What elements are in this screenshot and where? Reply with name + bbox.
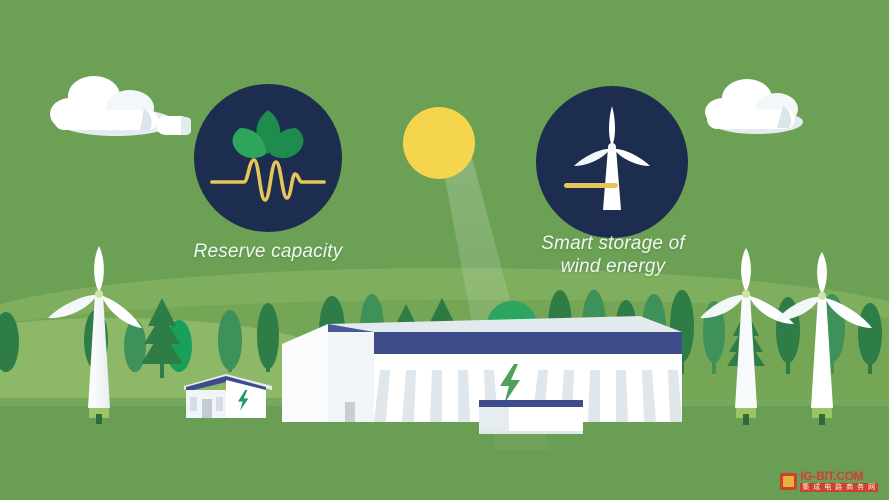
wind-turbine-left — [44, 246, 164, 428]
leaf-waveform-icon — [194, 84, 342, 232]
reserve-capacity-icon-circle[interactable] — [194, 84, 342, 232]
wind-turbine-icon — [536, 86, 688, 238]
wind-turbine-right-b — [776, 252, 886, 428]
watermark-title: IG-BIT.COM — [800, 470, 878, 482]
wind-storage-icon-circle[interactable] — [536, 86, 688, 238]
cloud-small-left — [155, 114, 191, 136]
substation-house[interactable] — [176, 372, 276, 422]
warehouse-annex — [479, 400, 583, 436]
watermark-text: IG-BIT.COM 集 成 电 路 商 务 网 — [800, 470, 878, 492]
illustration-canvas: Reserve capacity Smart storage of wind e… — [0, 0, 889, 500]
ig-bit-logo-icon — [780, 473, 797, 490]
reserve-capacity-label: Reserve capacity — [178, 240, 358, 263]
wind-storage-label: Smart storage of wind energy — [518, 232, 708, 278]
watermark-subtitle: 集 成 电 路 商 务 网 — [800, 483, 878, 492]
sun — [403, 107, 475, 179]
cloud-right — [703, 78, 807, 134]
watermark: IG-BIT.COM 集 成 电 路 商 务 网 — [777, 468, 881, 494]
